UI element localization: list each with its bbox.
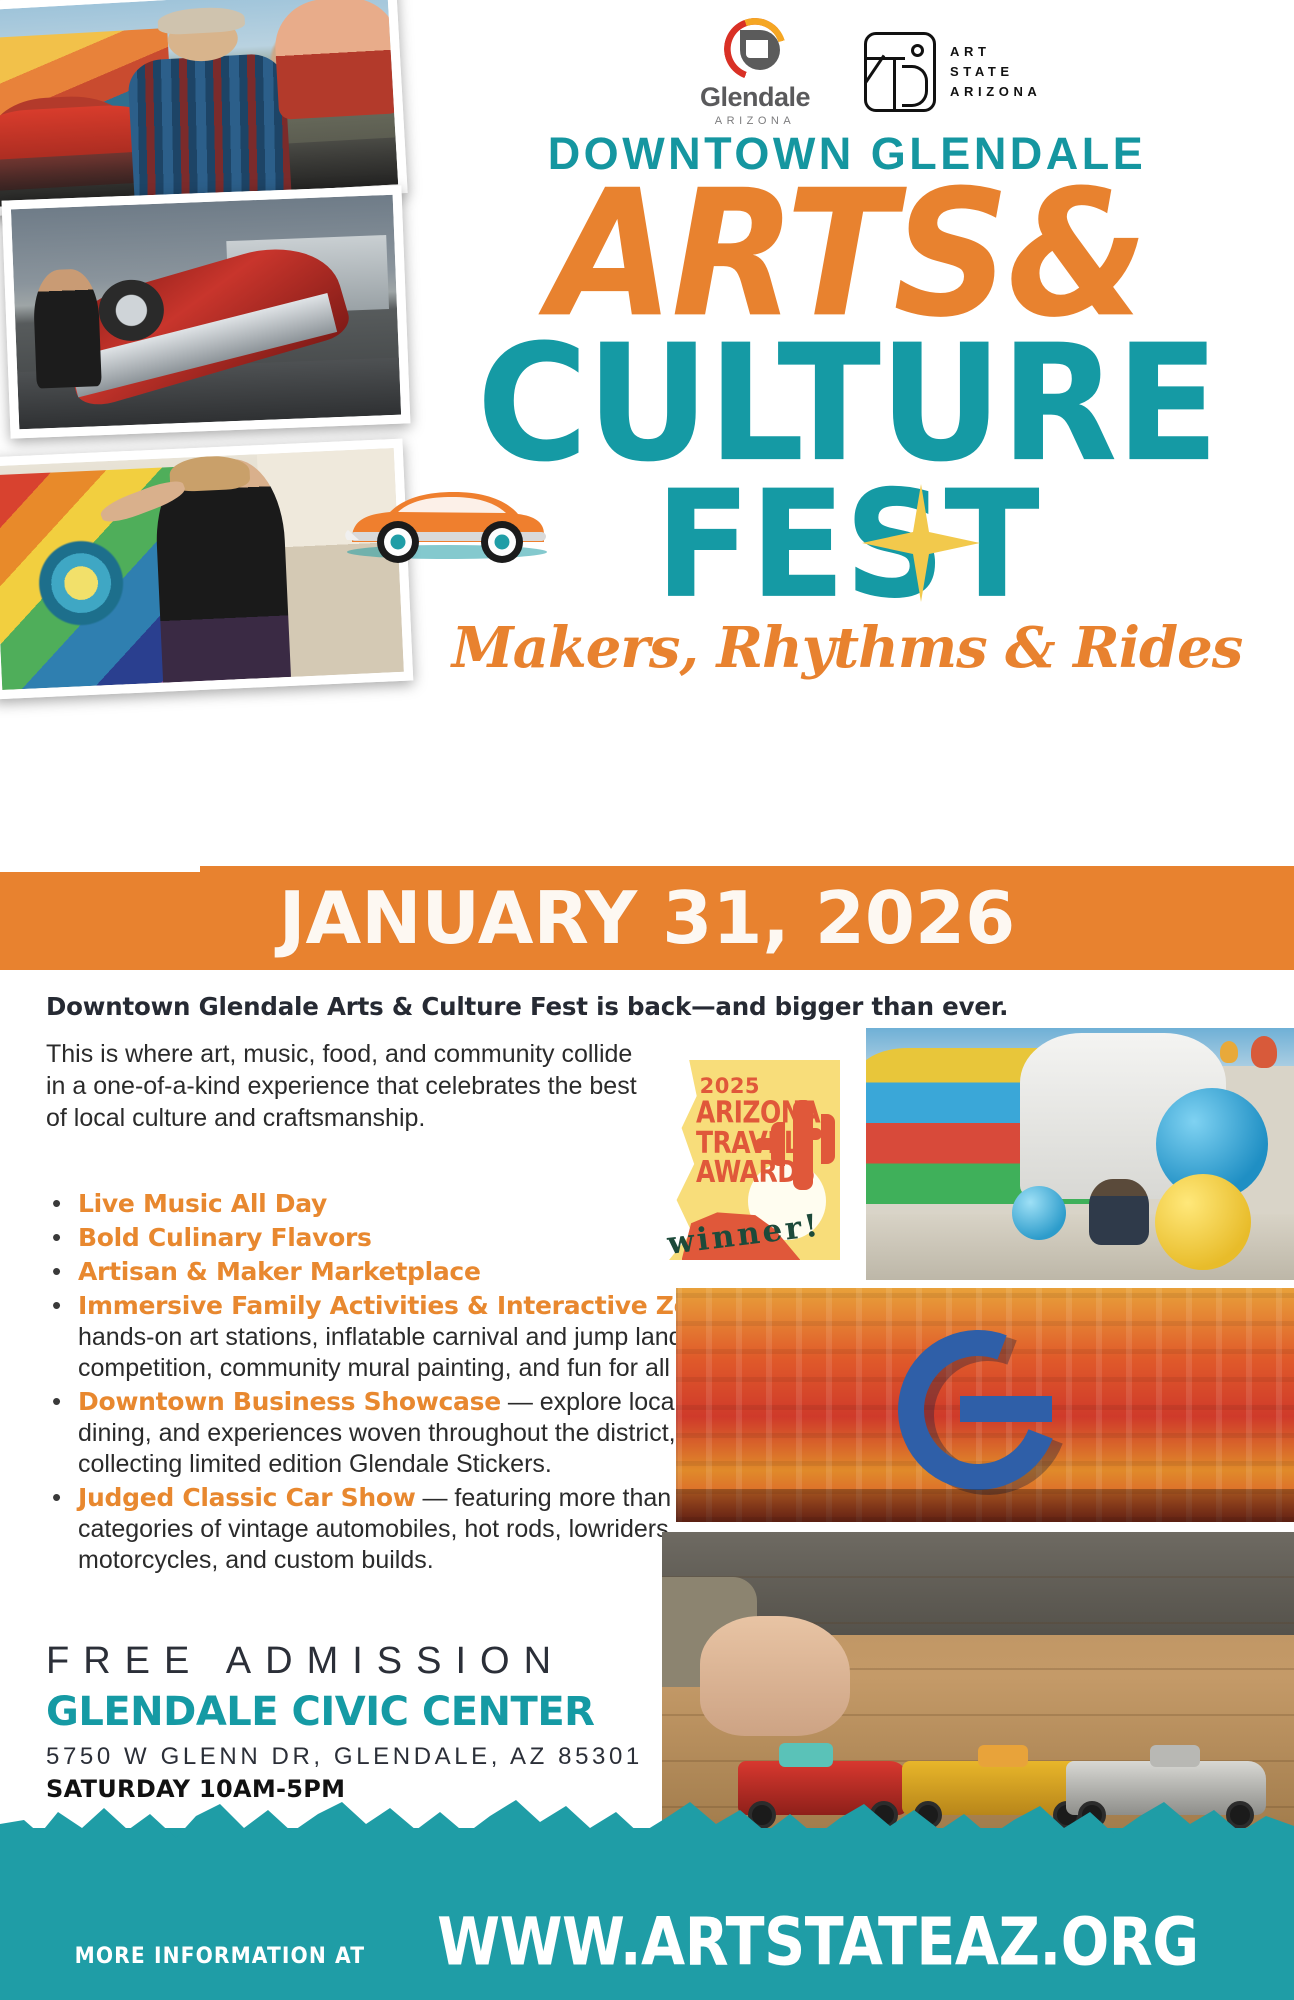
artstate-line-state: STATE bbox=[950, 62, 1041, 82]
arizona-travel-awards-badge: 2025 ARIZONA TRAVEL AWARDS winner! bbox=[660, 1060, 840, 1260]
title-fest: FEST bbox=[655, 459, 1039, 632]
event-date: JANUARY 31, 2026 bbox=[279, 876, 1015, 960]
more-info-label: MORE INFORMATION AT bbox=[75, 1944, 366, 1969]
retro-car-illustration bbox=[342, 474, 552, 566]
art-state-arizona-logo: ART STATE ARIZONA bbox=[864, 32, 1041, 112]
artstate-line-art: ART bbox=[950, 42, 1041, 62]
headline-block: DOWNTOWN GLENDALE ARTS& CULTURE FEST Mak… bbox=[400, 128, 1294, 681]
feature-heading: Downtown Business Showcase bbox=[78, 1387, 501, 1416]
award-line-awards: AWARDS bbox=[696, 1158, 797, 1188]
photo-inflatable-play-zone bbox=[866, 1028, 1294, 1280]
art-state-monogram-icon bbox=[864, 32, 936, 112]
small-blue-ball bbox=[1012, 1186, 1066, 1240]
title-arts: ARTS& bbox=[400, 180, 1294, 330]
glendale-logo: Glendale ARIZONA bbox=[680, 18, 830, 127]
hand-placing-car bbox=[700, 1616, 850, 1736]
yellow-inflatable-ball bbox=[1155, 1174, 1251, 1270]
mural-ground-shadow bbox=[676, 1489, 1294, 1522]
starburst-icon bbox=[862, 484, 980, 602]
website-url[interactable]: WWW.ARTSTATEAZ.ORG bbox=[437, 1903, 1198, 1980]
woman-portrait bbox=[272, 0, 398, 120]
award-title: ARIZONA TRAVEL AWARDS bbox=[696, 1098, 797, 1188]
artstate-line-arizona: ARIZONA bbox=[950, 82, 1041, 102]
g-logo-bar bbox=[960, 1396, 1052, 1422]
art-state-wordmark: ART STATE ARIZONA bbox=[950, 42, 1041, 102]
feature-heading: Artisan & Maker Marketplace bbox=[78, 1257, 481, 1286]
date-banner: JANUARY 31, 2026 bbox=[0, 866, 1294, 970]
feature-heading: Live Music All Day bbox=[78, 1189, 327, 1218]
torn-paper-edge bbox=[0, 1794, 1294, 1850]
venue-info-block: FREE ADMISSION GLENDALE CIVIC CENTER 575… bbox=[46, 1640, 686, 1803]
photo-glendale-g-mural bbox=[676, 1288, 1294, 1522]
feature-list-item: Artisan & Maker Marketplace bbox=[46, 1256, 806, 1288]
footer-bar: MORE INFORMATION AT WWW.ARTSTATEAZ.ORG bbox=[0, 1828, 1294, 2000]
venue-address: 5750 W GLENN DR, GLENDALE, AZ 85301 bbox=[46, 1743, 686, 1771]
glendale-g-icon bbox=[724, 18, 786, 80]
cactus-arm-right bbox=[798, 1128, 822, 1140]
logo-row: Glendale ARIZONA ART STATE ARIZONA bbox=[680, 24, 1110, 120]
event-poster: Glendale ARIZONA ART STATE ARIZONA DOWNT… bbox=[0, 0, 1294, 2000]
glendale-state-label: ARIZONA bbox=[715, 115, 795, 127]
title-culture: CULTURE bbox=[400, 333, 1294, 475]
footer-content: MORE INFORMATION AT WWW.ARTSTATEAZ.ORG bbox=[0, 1905, 1294, 1978]
glendale-wordmark: Glendale bbox=[700, 82, 810, 113]
photo-lowrider-tilt bbox=[2, 185, 411, 438]
feature-heading: Judged Classic Car Show bbox=[78, 1483, 416, 1512]
man-with-car bbox=[32, 268, 101, 389]
award-line-arizona: ARIZONA bbox=[696, 1098, 797, 1128]
free-admission-label: FREE ADMISSION bbox=[46, 1640, 686, 1683]
feature-heading: Bold Culinary Flavors bbox=[78, 1223, 372, 1252]
intro-paragraph: This is where art, music, food, and comm… bbox=[46, 1038, 646, 1134]
feature-heading: Immersive Family Activities & Interactiv… bbox=[78, 1291, 739, 1320]
hot-air-balloon bbox=[1251, 1036, 1277, 1068]
photo-car-show-crowd bbox=[0, 0, 408, 217]
hot-air-balloon-small bbox=[1220, 1041, 1238, 1063]
venue-name: GLENDALE CIVIC CENTER bbox=[46, 1689, 686, 1735]
man-flannel-shirt bbox=[127, 53, 291, 203]
lead-paragraph: Downtown Glendale Arts & Culture Fest is… bbox=[46, 992, 1046, 1021]
child-playing bbox=[1089, 1179, 1149, 1245]
